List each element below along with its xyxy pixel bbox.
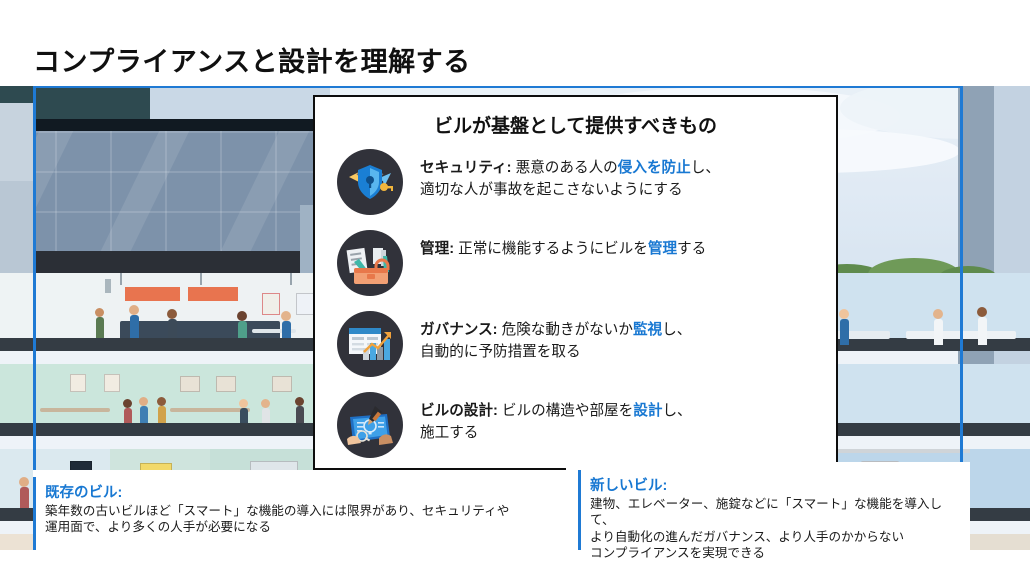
toolbox-icon (337, 230, 403, 296)
item-label: ガバナンス: (420, 322, 498, 338)
dashboard-chart-icon (337, 311, 403, 377)
bg-building (0, 181, 34, 273)
slide-root: コンプライアンスと設計を理解する ビルが基盤として提供すべきもの (0, 0, 1030, 570)
caption-line-2: より自動化の進んだガバナンス、より人手のかからない (590, 529, 957, 545)
shield-key-glyph (337, 149, 403, 215)
item-label: 管理: (420, 241, 454, 257)
item-label: ビルの設計: (420, 403, 498, 419)
item-text-before: ビルの構造や部屋を (498, 403, 633, 419)
caption-line-1: 建物、エレベーター、施錠などに「スマート」な機能を導入して、 (590, 496, 957, 529)
panel-title: ビルが基盤として提供すべきもの (315, 111, 836, 138)
dashboard-chart-glyph (337, 311, 403, 377)
page-title: コンプライアンスと設計を理解する (33, 40, 471, 79)
item-highlight: 侵入を防止 (618, 160, 691, 176)
tower-glass (0, 131, 330, 251)
tower-band (0, 119, 330, 131)
caption-gutter (566, 462, 578, 554)
caption-heading: 既存のビル: (45, 484, 560, 502)
blueprint-design-icon (337, 392, 403, 458)
slide-header: コンプライアンスと設計を理解する (0, 0, 1030, 86)
item-text-before: 悪意のある人の (512, 160, 618, 176)
blueprint-design-glyph (337, 392, 403, 458)
list-item: ガバナンス: 危険な動きがないか監視し、 自動的に予防措置を取る (337, 311, 822, 377)
shield-key-icon (337, 149, 403, 215)
item-text-before: 正常に機能するようにビルを (454, 241, 648, 257)
item-line2: 適切な人が事故を起こさないようにする (420, 182, 683, 198)
caption-line-2: 運用面で、より多くの人手が必要になる (45, 519, 560, 535)
existing-building-caption: 既存のビル: 築年数の古いビルほど「スマート」な機能の導入には限界があり、セキュ… (33, 477, 566, 550)
caption-heading: 新しいビル: (590, 477, 957, 495)
item-text-after: し、 (691, 160, 720, 176)
item-highlight: 設計 (633, 403, 662, 419)
list-item: ビルの設計: ビルの構造や部屋を設計し、 施工する (337, 392, 822, 458)
list-item: 管理: 正常に機能するようにビルを管理する (337, 230, 822, 296)
list-item-text: ビルの設計: ビルの構造や部屋を設計し、 施工する (420, 392, 692, 444)
item-highlight: 管理 (648, 241, 677, 257)
item-text-after: する (677, 241, 706, 257)
caption-line-1: 築年数の古いビルほど「スマート」な機能の導入には限界があり、セキュリティや (45, 503, 560, 519)
left-glass-tower (0, 85, 330, 295)
list-item-text: ガバナンス: 危険な動きがないか監視し、 自動的に予防措置を取る (420, 311, 691, 363)
list-item-text: 管理: 正常に機能するようにビルを管理する (420, 230, 706, 261)
tower-dark-band (0, 251, 330, 273)
item-text-before: 危険な動きがないか (498, 322, 633, 338)
item-highlight: 監視 (633, 322, 662, 338)
item-line2: 自動的に予防措置を取る (420, 344, 581, 360)
caption-line-3: コンプライアンスを実現できる (590, 545, 957, 561)
item-text-after: し、 (662, 322, 691, 338)
item-line2: 施工する (420, 425, 478, 441)
new-building-caption: 新しいビル: 建物、エレベーター、施錠などに「スマート」な機能を導入して、 より… (578, 470, 963, 550)
list-item-text: セキュリティ: 悪意のある人の侵入を防止し、 適切な人が事故を起こさないようにす… (420, 149, 720, 201)
capability-list: セキュリティ: 悪意のある人の侵入を防止し、 適切な人が事故を起こさないようにす… (337, 149, 822, 473)
item-text-after: し、 (662, 403, 691, 419)
tower-roof-light (150, 85, 330, 119)
item-label: セキュリティ: (420, 160, 512, 176)
list-item: セキュリティ: 悪意のある人の侵入を防止し、 適切な人が事故を起こさないようにす… (337, 149, 822, 215)
toolbox-glyph (337, 230, 403, 296)
key-capabilities-panel: ビルが基盤として提供すべきもの (313, 95, 838, 470)
